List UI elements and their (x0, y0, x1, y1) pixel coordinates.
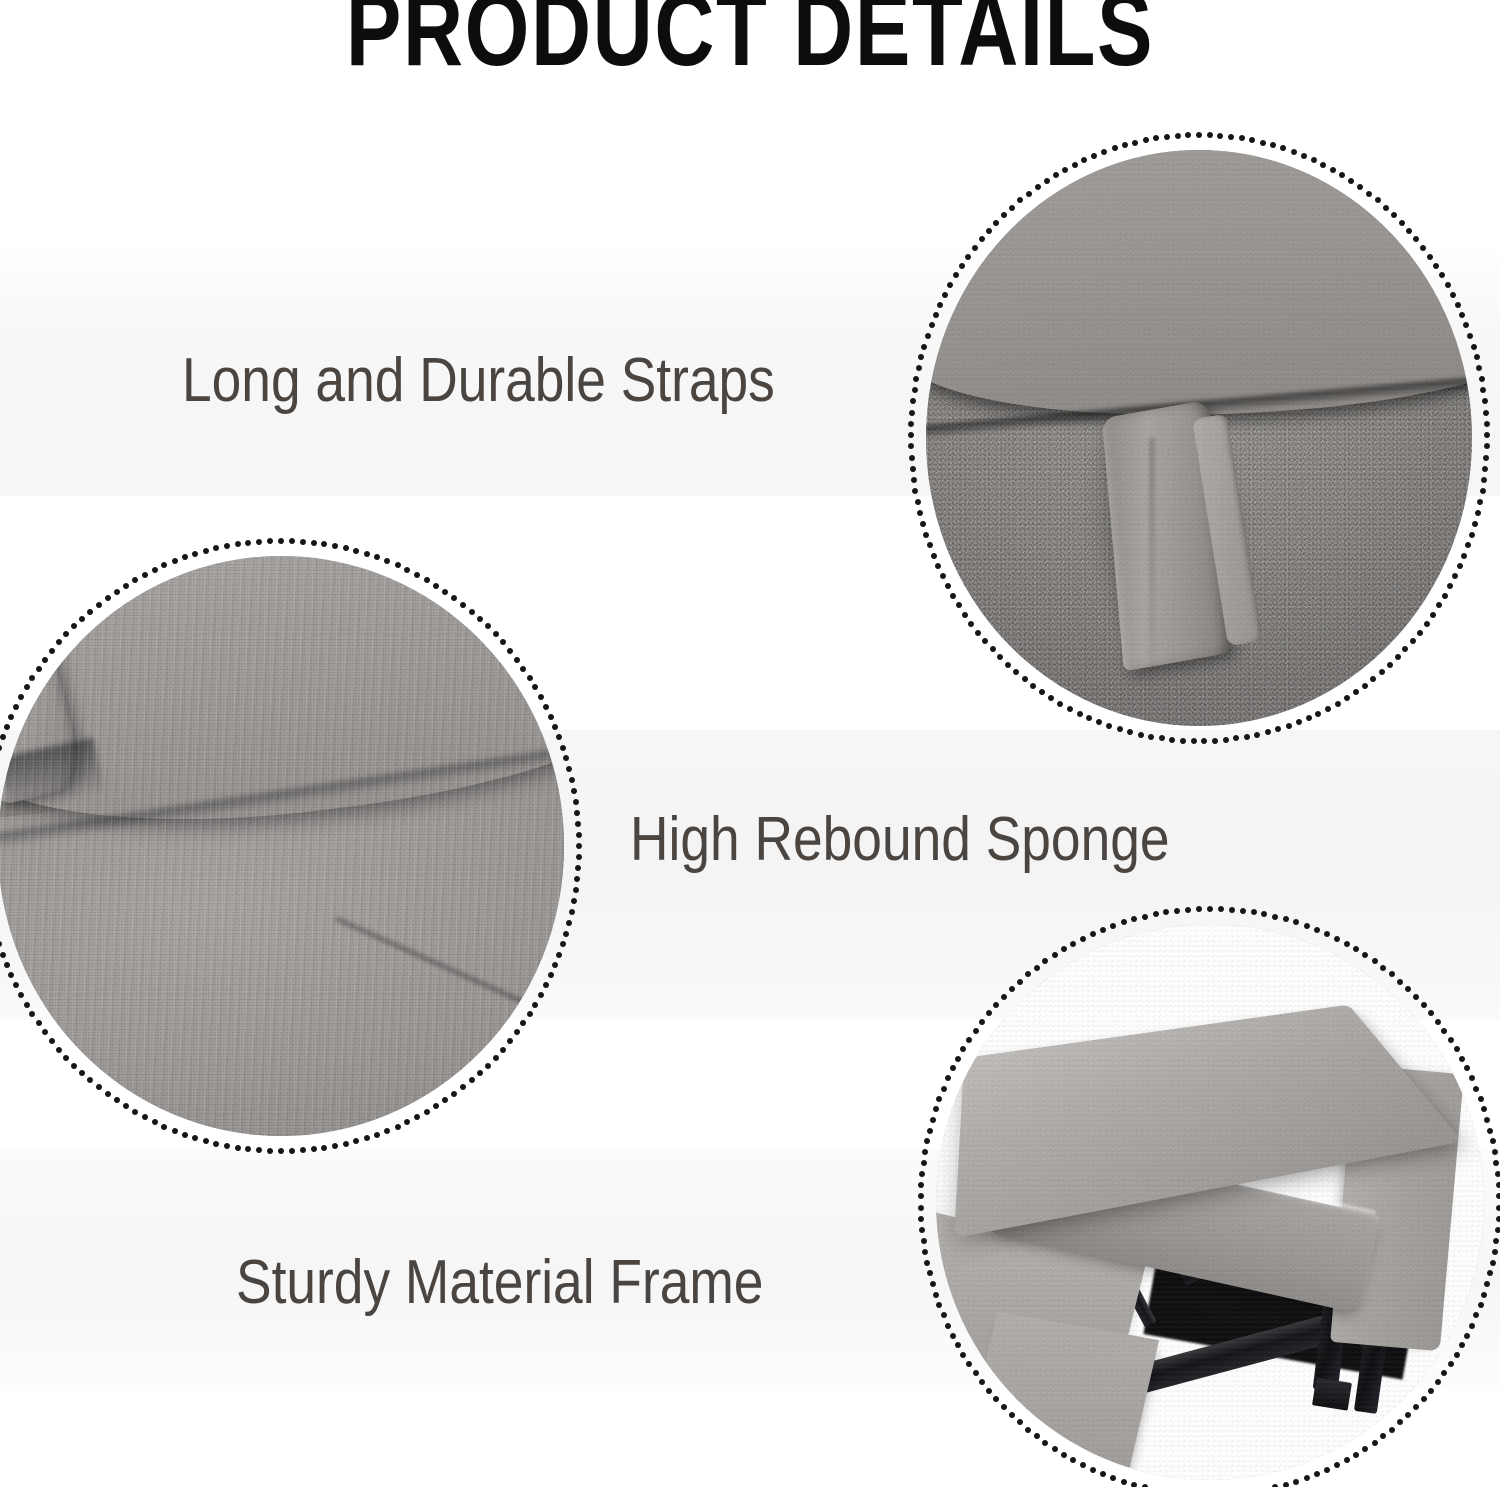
fabric-strap-closeup-photo (926, 150, 1472, 726)
fabric-weave-texture (0, 556, 564, 1136)
fabric-skirt-flap (965, 1312, 1160, 1480)
border-dot (1270, 142, 1276, 148)
border-dot (203, 548, 209, 554)
border-dot (1207, 132, 1213, 138)
border-dot (1490, 1138, 1496, 1144)
border-dot (1249, 137, 1255, 143)
border-dot (1477, 499, 1483, 505)
border-dot (1131, 1482, 1137, 1487)
page-title: PRODUCT DETAILS (150, 0, 1350, 82)
product-details-infographic: PRODUCT DETAILS Long and Durable Straps … (0, 0, 1500, 1487)
border-dot (927, 1128, 933, 1134)
border-dot (1239, 135, 1245, 141)
border-dot (332, 1143, 338, 1149)
border-dot (289, 538, 295, 544)
border-dot (1260, 140, 1266, 146)
border-dot (920, 521, 926, 527)
border-dot (300, 539, 306, 545)
border-dot (213, 545, 219, 551)
border-dot (353, 1138, 359, 1144)
seat-cushion-closeup-photo (0, 556, 564, 1136)
feature-label-sponge: High Rebound Sponge (630, 805, 1170, 875)
border-dot (1217, 133, 1223, 139)
border-dot (1228, 134, 1234, 140)
feature-label-frame: Sturdy Material Frame (236, 1248, 763, 1318)
fabric-crease (1150, 438, 1154, 714)
frame-foot (1312, 1377, 1352, 1410)
border-dot (1153, 135, 1159, 141)
border-dot (235, 541, 241, 547)
border-dot (321, 541, 327, 547)
border-dot (213, 1141, 219, 1147)
border-dot (353, 548, 359, 554)
border-dot (332, 543, 338, 549)
border-dot (256, 539, 262, 545)
border-dot (1487, 1128, 1493, 1134)
border-dot (311, 540, 317, 546)
border-dot (1283, 1482, 1289, 1487)
border-dot (1143, 137, 1149, 143)
border-dot (224, 1143, 230, 1149)
border-dot (1196, 132, 1202, 138)
border-dot (930, 1117, 936, 1123)
border-dot (245, 540, 251, 546)
border-dot (1472, 521, 1478, 527)
feature-label-straps: Long and Durable Straps (182, 346, 775, 416)
border-dot (1175, 133, 1181, 139)
border-dot (917, 510, 923, 516)
border-dot (1484, 1117, 1490, 1123)
border-dot (203, 1138, 209, 1144)
border-dot (1122, 142, 1128, 148)
border-dot (278, 538, 284, 544)
border-dot (924, 1138, 930, 1144)
border-dot (1164, 134, 1170, 140)
border-dot (1185, 132, 1191, 138)
border-dot (343, 1141, 349, 1147)
border-dot (343, 545, 349, 551)
border-dot (915, 499, 921, 505)
border-dot (1475, 510, 1481, 516)
border-dot (1132, 140, 1138, 146)
metal-frame-closeup-photo (936, 924, 1484, 1480)
border-dot (224, 543, 230, 549)
border-dot (267, 538, 273, 544)
